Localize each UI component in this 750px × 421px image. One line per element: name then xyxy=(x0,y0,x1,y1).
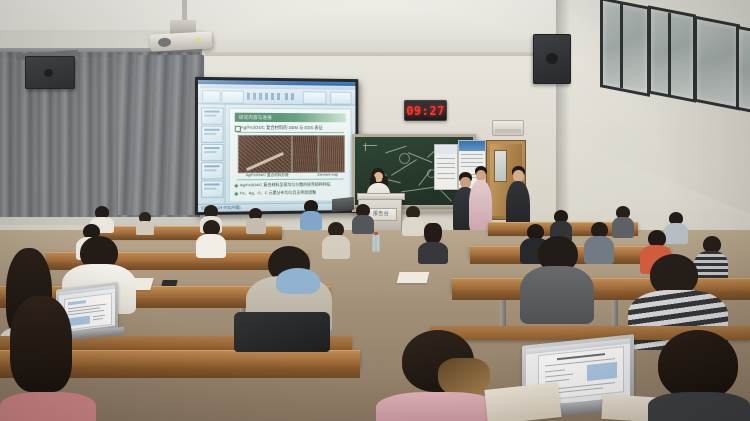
head xyxy=(10,296,72,392)
ribbon-icon xyxy=(265,93,268,100)
torso xyxy=(246,218,266,234)
window-mullion xyxy=(620,4,623,89)
head xyxy=(658,330,738,400)
foreground-student-ponytail xyxy=(376,330,500,421)
student-row2-2 xyxy=(196,220,226,256)
slide-thumbnail[interactable] xyxy=(201,107,224,124)
slide-title-bar: 研究内容与进展 xyxy=(235,113,346,123)
powerpoint-ribbon xyxy=(198,84,355,106)
chalk-circle xyxy=(399,153,410,164)
ribbon-icon xyxy=(259,93,262,100)
slide-caption-right: Element map xyxy=(318,173,339,177)
open-notebook xyxy=(484,382,561,421)
ribbon-icon xyxy=(291,93,294,100)
slide-caption-left: Ag/Fe3O4/C 复合材料形貌 xyxy=(246,173,289,178)
slide-subtitle-text: Ag/Fe3O4/C 复合材料的 SEM 与 EDS 表征 xyxy=(241,125,323,131)
slide-thumbnail[interactable] xyxy=(201,162,224,179)
projector-status-led xyxy=(196,38,200,42)
chalk-mark xyxy=(401,187,435,193)
slide-bullet-2: Fe、Ag、O、C 元素分布均匀且无明显团聚 xyxy=(240,190,316,197)
smartphone xyxy=(161,280,177,286)
ribbon-group-slides xyxy=(222,90,244,103)
torso xyxy=(352,215,374,234)
podium-laptop xyxy=(332,197,354,212)
window-1 xyxy=(600,0,650,97)
student-far-2 xyxy=(136,212,154,232)
torso xyxy=(418,242,448,264)
student-row3-right xyxy=(520,236,594,320)
foreground-student-right xyxy=(648,330,750,421)
slide-thumbnail-panel[interactable] xyxy=(198,104,226,212)
slide-thumbnail[interactable] xyxy=(201,144,224,161)
ceiling-projector xyxy=(150,31,213,51)
poster-header xyxy=(435,145,457,154)
window-4 xyxy=(736,26,750,117)
curtain-left-inner xyxy=(118,55,204,215)
ribbon-icon xyxy=(285,93,288,100)
torso xyxy=(136,221,154,235)
slide-thumbnail[interactable] xyxy=(201,126,224,143)
torso xyxy=(520,266,594,324)
wall-speaker-right xyxy=(533,34,571,84)
slide-image-sem-b xyxy=(292,135,319,173)
torso xyxy=(612,217,634,238)
ribbon-group-clipboard xyxy=(202,90,220,103)
slide-title-text: 研究内容与进展 xyxy=(239,114,272,121)
hood xyxy=(276,268,320,294)
slide-subtitle-row: Ag/Fe3O4/C 复合材料的 SEM 与 EDS 表征 xyxy=(237,125,344,133)
chalk-mark xyxy=(365,143,366,151)
screen-table xyxy=(587,362,617,381)
student-far-4 xyxy=(246,208,266,232)
wall-speaker-left xyxy=(25,56,75,89)
air-conditioner-unit xyxy=(492,120,524,136)
slide-thumbnail[interactable] xyxy=(201,180,224,197)
foreground-student-left xyxy=(0,296,96,421)
ribbon-group-drawing xyxy=(303,91,327,104)
water-bottle xyxy=(372,234,380,252)
clock-time: 09:27 xyxy=(405,101,446,120)
ribbon-group-editing xyxy=(330,92,351,105)
projection-screen-frame: 研究内容与进展 Ag/Fe3O4/C 复合材料的 SEM 与 EDS 表征 Ag… xyxy=(195,77,358,215)
student-far-6 xyxy=(352,204,374,232)
backpack xyxy=(234,312,330,352)
torso xyxy=(300,211,322,230)
projection-screen: 研究内容与进展 Ag/Fe3O4/C 复合材料的 SEM 与 EDS 表征 Ag… xyxy=(198,80,355,212)
podium-top xyxy=(357,193,405,200)
projector-pole xyxy=(182,0,187,22)
digital-wall-clock: 09:27 xyxy=(404,100,447,121)
ribbon-icon xyxy=(253,93,256,100)
ribbon-icon xyxy=(277,93,280,100)
student-far-5 xyxy=(300,200,322,228)
student-row2-4 xyxy=(418,224,448,262)
slide-image-sem-main xyxy=(238,135,292,173)
student-far-9 xyxy=(612,206,634,236)
window-3 xyxy=(694,16,740,111)
paper-sheet xyxy=(397,272,430,283)
classroom-scene: 研究内容与进展 Ag/Fe3O4/C 复合材料的 SEM 与 EDS 表征 Ag… xyxy=(0,0,750,421)
window-2 xyxy=(648,5,696,102)
bottle-cap xyxy=(374,232,378,235)
slide-divider xyxy=(237,179,344,181)
ribbon-tab-strip xyxy=(200,84,355,90)
torso xyxy=(648,392,750,421)
active-slide[interactable]: 研究内容与进展 Ag/Fe3O4/C 复合材料的 SEM 与 EDS 表征 Ag… xyxy=(229,108,352,203)
torso xyxy=(0,392,96,421)
ribbon-icon xyxy=(247,93,250,100)
window-mullion xyxy=(668,13,671,96)
slide-image-sem-c xyxy=(318,135,344,173)
torso xyxy=(196,234,226,258)
poster-header xyxy=(459,141,485,151)
slide-bullet-1: Ag/Fe3O4/C 复合材料呈现均匀分散的核壳结构特征 xyxy=(240,182,331,189)
ribbon-icon xyxy=(271,93,274,100)
torso xyxy=(376,392,500,421)
